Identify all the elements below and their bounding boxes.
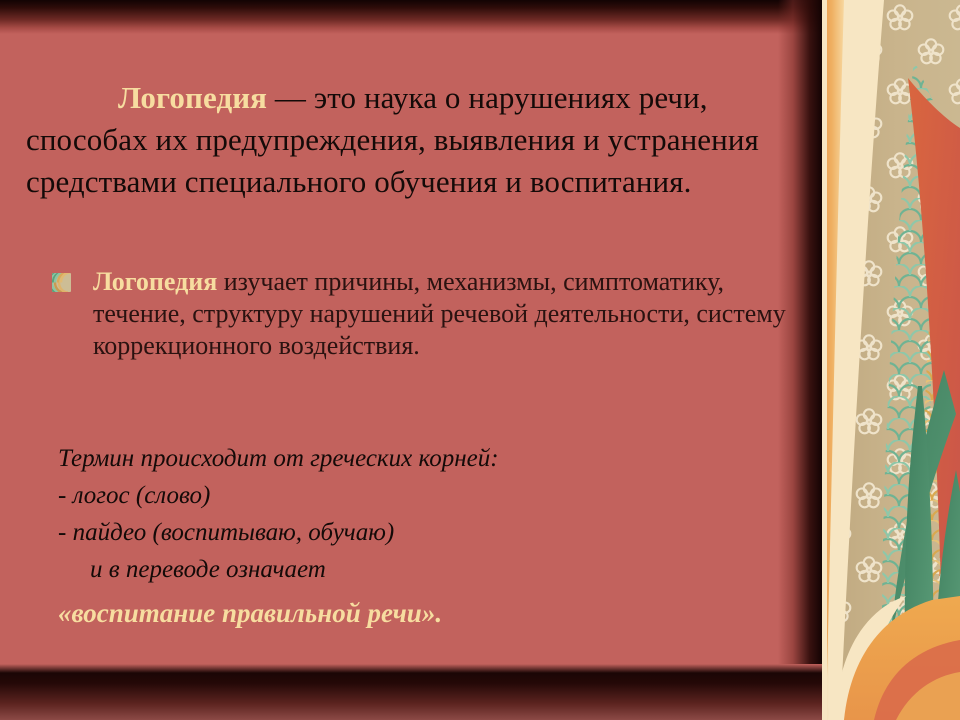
bottom-edge-shading: [0, 664, 822, 720]
list-item-keyword: Логопедия: [93, 267, 217, 296]
greek-translation-line: «воспитание правильной речи».: [58, 588, 798, 633]
greek-root-paideo: - пайдео (воспитываю, обучаю): [58, 514, 798, 551]
lead-paragraph: Логопедия — это наука о нарушениях речи,…: [26, 77, 806, 203]
greek-connector-line: и в переводе означает: [58, 551, 798, 588]
presentation-slide: Логопедия — это наука о нарушениях речи,…: [0, 0, 960, 720]
ornamental-bullet-icon: [52, 273, 71, 292]
right-edge-shading: [778, 0, 822, 720]
floral-ribbon-border: [822, 0, 960, 720]
top-edge-shading: [0, 0, 822, 34]
greek-root-logos: - логос (слово): [58, 477, 798, 514]
slide-content-panel: Логопедия — это наука о нарушениях речи,…: [0, 0, 822, 720]
lead-keyword: Логопедия: [118, 80, 267, 115]
list-item-text: Логопедия изучает причины, механизмы, си…: [93, 266, 812, 362]
list-item: Логопедия изучает причины, механизмы, си…: [52, 266, 812, 362]
bullet-list: Логопедия изучает причины, механизмы, си…: [52, 266, 812, 362]
greek-intro-line: Термин происходит от греческих корней:: [58, 440, 798, 477]
greek-origin-block: Термин происходит от греческих корней: -…: [58, 440, 798, 633]
